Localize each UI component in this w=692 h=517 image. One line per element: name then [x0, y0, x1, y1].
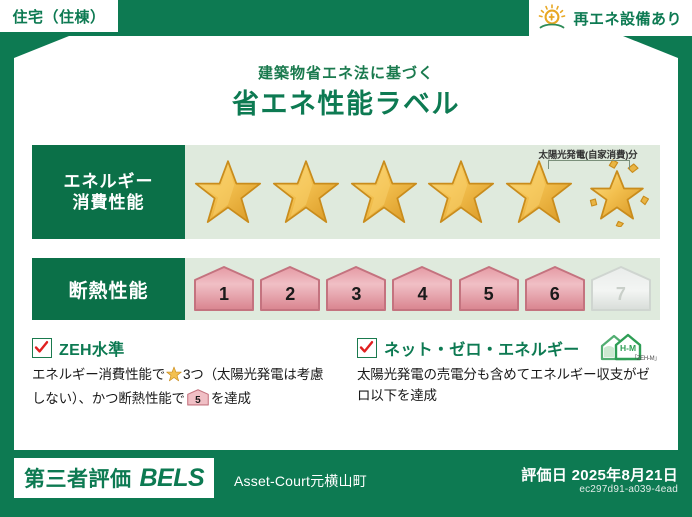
star-filled-4	[426, 157, 496, 227]
feature-zeh-body-post: を達成	[211, 391, 251, 406]
insulation-level-2: 2	[259, 265, 321, 313]
sun-icon	[537, 4, 567, 32]
insulation-performance-row: 断熱性能	[32, 258, 660, 320]
label-panel: 建築物省エネ法に基づく 省エネ性能ラベル エネルギー 消費性能 太陽光発電(自家…	[14, 36, 678, 450]
label-subtitle: 建築物省エネ法に基づく	[14, 62, 678, 83]
svg-text:H-M: H-M	[620, 343, 636, 353]
solar-star-note: 太陽光発電(自家消費)分	[518, 147, 658, 161]
energy-performance-label-box: エネルギー 消費性能	[32, 145, 185, 239]
insulation-level-4: 4	[391, 265, 453, 313]
star-filled-1	[193, 157, 263, 227]
insulation-levels-area: 1 2 3	[185, 258, 660, 320]
star-filled-2	[271, 157, 341, 227]
insulation-level-6: 6	[524, 265, 586, 313]
insulation-label: 断熱性能	[68, 276, 148, 303]
solar-bracket	[548, 160, 630, 169]
feature-zeh-title: ZEH水準	[59, 336, 125, 360]
evaluation-date: 評価日 2025年8月21日	[521, 464, 678, 485]
insulation-badge-number: 5	[187, 393, 209, 409]
energy-stars-area: 太陽光発電(自家消費)分	[185, 145, 660, 239]
insulation-level-5: 5	[458, 265, 520, 313]
bels-en-label: BELS	[140, 464, 205, 493]
feature-blocks: ZEH水準 エネルギー消費性能で3つ（太陽光発電は考慮しない）、かつ断熱性能で5…	[32, 336, 660, 410]
evaluation-id: ec297d91-a039-4ead	[579, 484, 678, 495]
renewable-badge-label: 再エネ設備あり	[573, 8, 682, 29]
label-footer: 第三者評価 BELS Asset-Court元横山町 評価日 2025年8月21…	[0, 450, 692, 517]
insulation-level-3: 3	[325, 265, 387, 313]
check-icon	[357, 338, 377, 358]
feature-nze-body: 太陽光発電の売電分も含めてエネルギー収支がゼロ以下を達成	[357, 365, 660, 407]
feature-net-zero-energy: ネット・ゼロ・エネルギー H-M 「ZEH-M」 太陽光発電の売電分も含めてエネ…	[357, 336, 660, 410]
star-filled-3	[349, 157, 419, 227]
insulation-level-7-inactive: 7	[590, 265, 652, 313]
insulation-level-scale: 1 2 3	[191, 258, 654, 320]
building-name: Asset-Court元横山町	[234, 471, 367, 491]
insulation-badge-icon: 5	[187, 389, 209, 406]
label-title: 省エネ性能ラベル	[14, 82, 678, 121]
renewable-equipment-badge: 再エネ設備あり	[529, 0, 692, 36]
energy-label-line2: 消費性能	[73, 192, 145, 213]
bels-certification-box: 第三者評価 BELS	[14, 458, 214, 498]
feature-nze-title: ネット・ゼロ・エネルギー	[384, 336, 580, 360]
insulation-performance-label-box: 断熱性能	[32, 258, 185, 320]
energy-performance-label: 住宅（住棟） 再エネ設備あり 建	[0, 0, 692, 517]
building-type-label: 住宅（住棟）	[12, 6, 105, 27]
feature-zeh-body: エネルギー消費性能で3つ（太陽光発電は考慮しない）、かつ断熱性能で5を達成	[32, 365, 335, 410]
feature-zeh-standard: ZEH水準 エネルギー消費性能で3つ（太陽光発電は考慮しない）、かつ断熱性能で5…	[32, 336, 335, 410]
feature-zeh-body-pre: エネルギー消費性能で	[32, 367, 165, 382]
zeh-m-caption: 「ZEH-M」	[631, 353, 660, 362]
energy-label-line1: エネルギー	[64, 171, 154, 192]
insulation-level-1: 1	[193, 265, 255, 313]
feature-zeh-header: ZEH水準	[32, 336, 335, 360]
star-icon	[166, 366, 182, 389]
building-type-tag: 住宅（住棟）	[0, 0, 118, 32]
bels-jp-label: 第三者評価	[24, 463, 132, 493]
energy-performance-row: エネルギー 消費性能 太陽光発電(自家消費)分	[32, 145, 660, 239]
check-icon	[32, 338, 52, 358]
